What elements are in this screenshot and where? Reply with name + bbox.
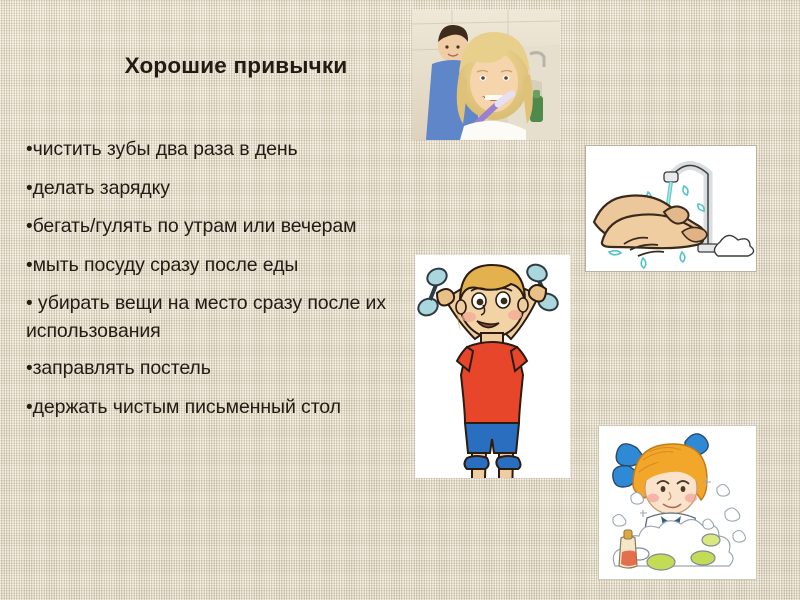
list-item-text: убирать вещи на место сразу после их исп… (26, 292, 386, 342)
list-item-text: чистить зубы два раза в день (33, 138, 298, 160)
page-title: Хорошие привычки (96, 53, 376, 79)
brushing-teeth-photo (412, 10, 560, 140)
list-item-text: делать зарядку (33, 177, 170, 199)
list-item-text: держать чистым письменный стол (33, 396, 341, 418)
list-item: •заправлять постель (26, 355, 392, 383)
habits-list: •чистить зубы два раза в день •делать за… (26, 136, 392, 421)
list-item-text: бегать/гулять по утрам или вечерам (33, 215, 357, 237)
washing-dishes-illustration (598, 425, 757, 580)
washing-hands-illustration (585, 145, 757, 272)
list-item: •делать зарядку (26, 175, 392, 203)
list-item: • убирать вещи на место сразу после их и… (26, 290, 392, 344)
list-item: •бегать/гулять по утрам или вечерам (26, 213, 392, 241)
morning-exercise-illustration (415, 255, 570, 478)
list-item: •держать чистым письменный стол (26, 394, 392, 422)
list-item-text: мыть посуду сразу после еды (33, 254, 299, 276)
list-item: •мыть посуду сразу после еды (26, 252, 392, 280)
list-item-text: заправлять постель (33, 357, 211, 379)
slide-canvas: Хорошие привычки •чистить зубы два раза … (0, 0, 800, 600)
list-item: •чистить зубы два раза в день (26, 136, 392, 164)
